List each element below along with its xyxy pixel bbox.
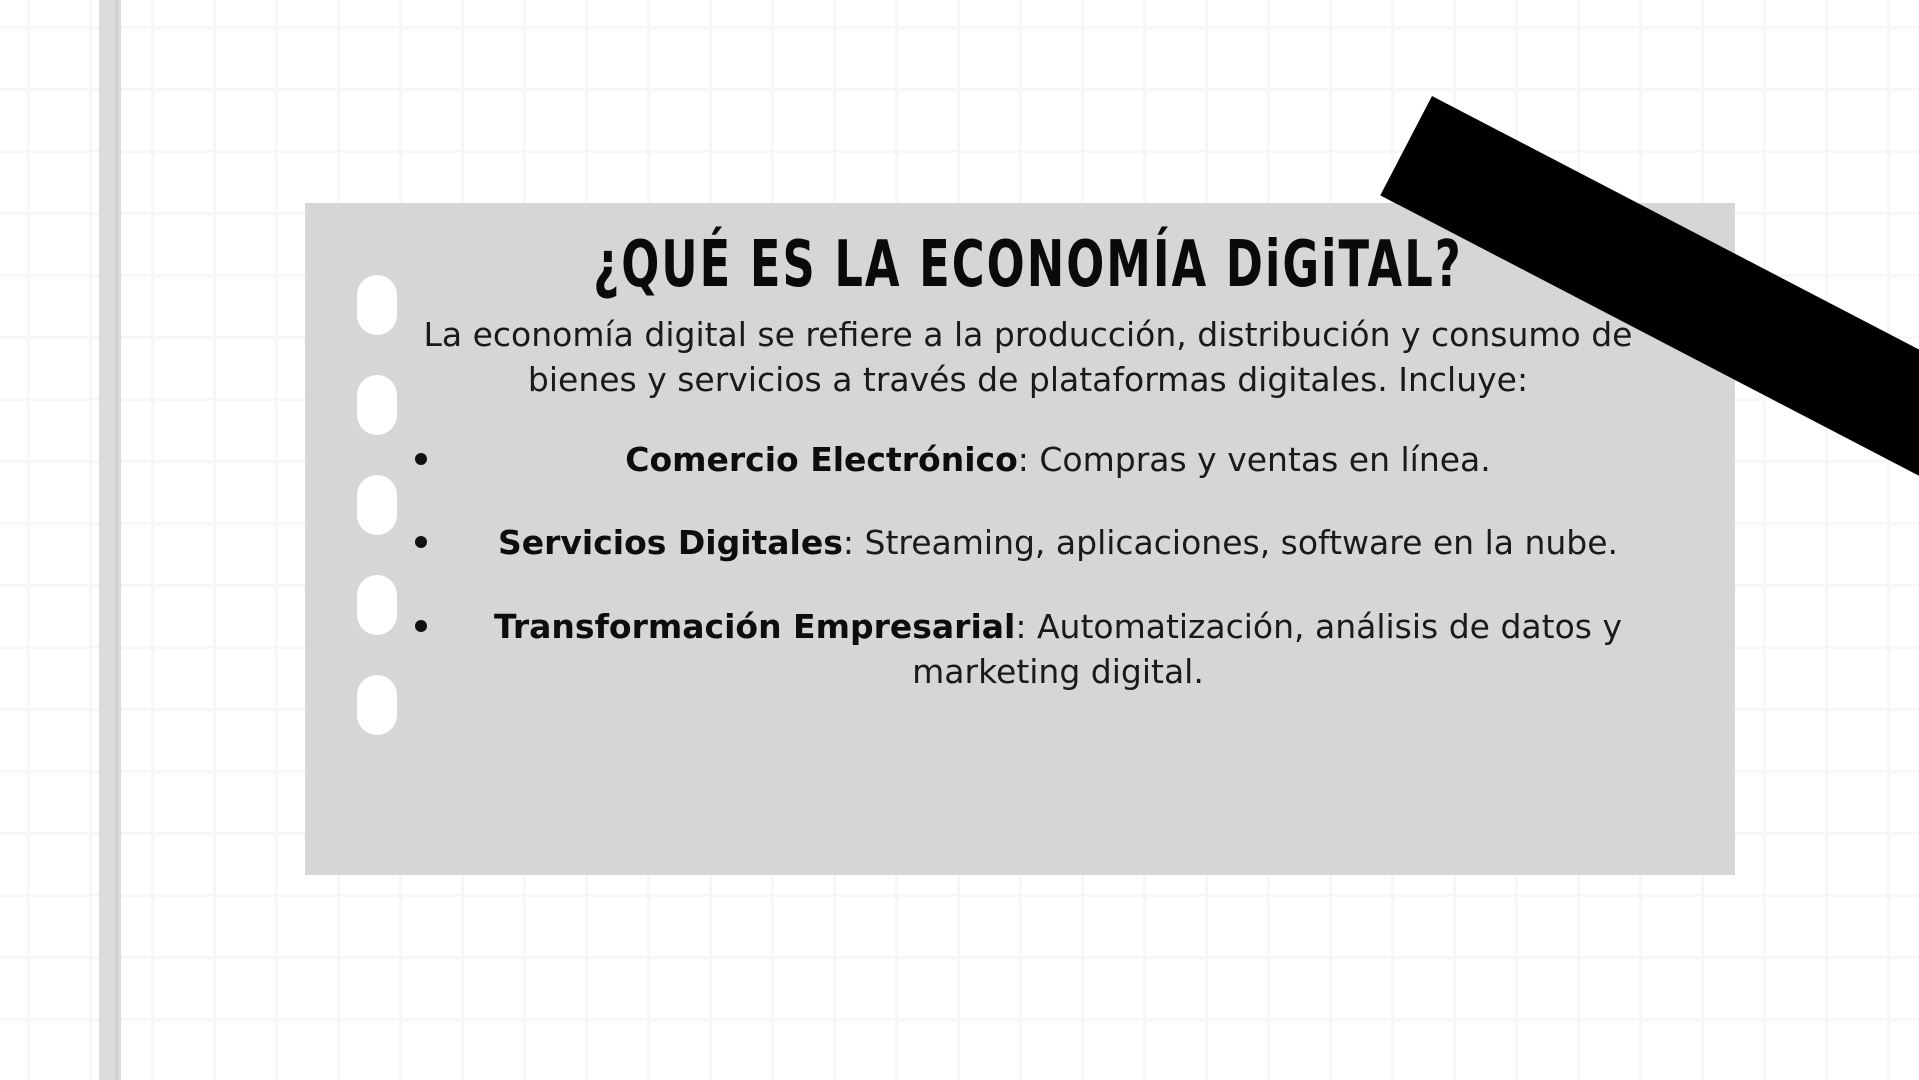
list-item: Transformación Empresarial: Automatizaci… [359, 604, 1697, 695]
card-body: ¿QUÉ ES LA ECONOMÍA DiGiTAL? La economía… [305, 203, 1735, 875]
bullet-description: Streaming, aplicaciones, software en la … [865, 523, 1619, 562]
slide-title: ¿QUÉ ES LA ECONOMÍA DiGiTAL? [485, 203, 1571, 302]
bullet-term: Comercio Electrónico [625, 440, 1018, 479]
bullet-dot-icon [415, 620, 427, 632]
bullet-term: Servicios Digitales [498, 523, 843, 562]
bullet-list: Comercio Electrónico: Compras y ventas e… [349, 403, 1707, 695]
list-item: Comercio Electrónico: Compras y ventas e… [359, 437, 1697, 483]
content-card: ¿QUÉ ES LA ECONOMÍA DiGiTAL? La economía… [305, 203, 1735, 875]
bullet-term: Transformación Empresarial [494, 607, 1015, 646]
bullet-separator: : [1015, 607, 1037, 646]
bullet-dot-icon [415, 453, 427, 465]
bullet-description: Compras y ventas en línea. [1039, 440, 1490, 479]
list-item: Servicios Digitales: Streaming, aplicaci… [359, 520, 1697, 566]
bullet-dot-icon [415, 536, 427, 548]
intro-paragraph: La economía digital se refiere a la prod… [349, 290, 1707, 403]
bullet-separator: : [1018, 440, 1040, 479]
slide-canvas: ¿QUÉ ES LA ECONOMÍA DiGiTAL? La economía… [0, 0, 1919, 1080]
bullet-separator: : [843, 523, 865, 562]
notebook-margin-rule [99, 0, 121, 1080]
